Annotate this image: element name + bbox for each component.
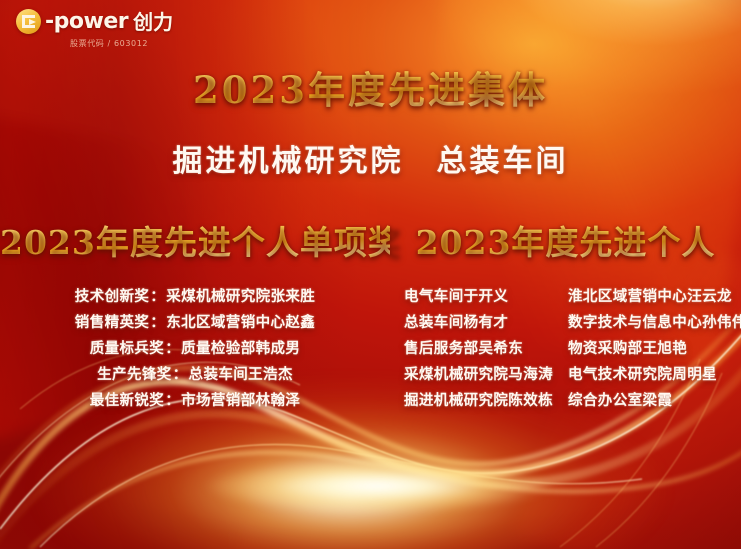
award-lists: 技术创新奖：采煤机械研究院张来胜 销售精英奖：东北区域营销中心赵鑫 质量标兵奖：… <box>0 284 741 414</box>
award-winner: 总装车间王浩杰 <box>189 366 293 383</box>
award-winner: 数字技术与信息中心孙伟伟 <box>568 310 741 336</box>
award-separator: ： <box>164 392 181 409</box>
section-headings: 2023年度先进个人单项奖 2023年度先进个人 <box>0 216 741 264</box>
award-winner: 电气车间于开义 <box>390 284 568 310</box>
award-winner: 掘进机械研究院陈效栋 <box>390 388 568 414</box>
list-item: 技术创新奖：采煤机械研究院张来胜 <box>0 284 390 310</box>
award-poster: -power 创力 股票代码 / 603012 2023年度先进集体 掘进机械研… <box>0 0 741 549</box>
award-label: 质量标兵奖 <box>90 340 165 357</box>
list-item: 生产先锋奖：总装车间王浩杰 <box>0 362 390 388</box>
award-separator: ： <box>149 314 166 331</box>
award-winner: 质量检验部韩成男 <box>181 340 300 357</box>
logo-wordmark-cn: 创力 <box>133 12 173 32</box>
section-heading-individual: 2023年度先进个人 <box>390 216 741 264</box>
circle-arrow-logo-icon <box>16 9 41 34</box>
individual-award-list: 电气车间于开义淮北区域营销中心汪云龙 总装车间杨有才数字技术与信息中心孙伟伟 售… <box>390 284 741 414</box>
stock-code-label: 股票代码 / 603012 <box>70 38 148 49</box>
award-separator: ： <box>172 366 189 383</box>
list-item: 掘进机械研究院陈效栋综合办公室梁霞 <box>390 388 741 414</box>
collective-winners: 掘进机械研究院 总装车间 <box>0 136 741 180</box>
list-item: 销售精英奖：东北区域营销中心赵鑫 <box>0 310 390 336</box>
special-award-list: 技术创新奖：采煤机械研究院张来胜 销售精英奖：东北区域营销中心赵鑫 质量标兵奖：… <box>0 284 390 414</box>
award-winner: 采煤机械研究院马海涛 <box>390 362 568 388</box>
page-title: 2023年度先进集体 <box>0 60 741 114</box>
award-label: 最佳新锐奖 <box>90 392 165 409</box>
list-item: 售后服务部吴希东物资采购部王旭艳 <box>390 336 741 362</box>
list-item: 总装车间杨有才数字技术与信息中心孙伟伟 <box>390 310 741 336</box>
award-separator: ： <box>164 340 181 357</box>
award-winner: 采煤机械研究院张来胜 <box>166 288 315 305</box>
award-winner: 总装车间杨有才 <box>390 310 568 336</box>
section-heading-individual-special: 2023年度先进个人单项奖 <box>0 216 390 264</box>
company-logo[interactable]: -power 创力 <box>16 9 173 34</box>
swoosh-hotspot <box>178 459 578 513</box>
award-label: 技术创新奖 <box>75 288 150 305</box>
list-item: 采煤机械研究院马海涛电气技术研究院周明星 <box>390 362 741 388</box>
award-label: 销售精英奖 <box>75 314 150 331</box>
award-winner: 电气技术研究院周明星 <box>568 362 741 388</box>
award-winner: 东北区域营销中心赵鑫 <box>166 314 315 331</box>
logo-wordmark: -power <box>45 11 128 33</box>
award-winner: 综合办公室梁霞 <box>568 388 741 414</box>
award-label: 生产先锋奖 <box>97 366 172 383</box>
award-winner: 物资采购部王旭艳 <box>568 336 741 362</box>
award-winner: 售后服务部吴希东 <box>390 336 568 362</box>
award-separator: ： <box>149 288 166 305</box>
award-winner: 市场营销部林翰泽 <box>181 392 300 409</box>
list-item: 电气车间于开义淮北区域营销中心汪云龙 <box>390 284 741 310</box>
list-item: 质量标兵奖：质量检验部韩成男 <box>0 336 390 362</box>
list-item: 最佳新锐奖：市场营销部林翰泽 <box>0 388 390 414</box>
silk-fold-center <box>165 0 455 253</box>
award-winner: 淮北区域营销中心汪云龙 <box>568 284 741 310</box>
